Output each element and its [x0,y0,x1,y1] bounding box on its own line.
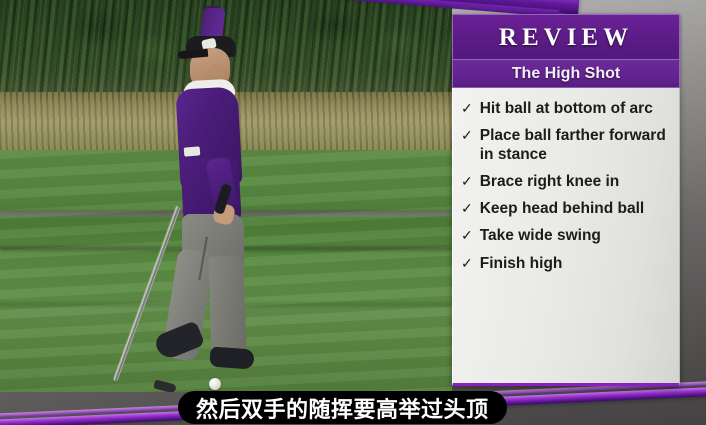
list-item: ✓ Place ball farther forward in stance [461,127,669,164]
golfer-figure [148,8,283,386]
bullet-text: Brace right knee in [480,173,669,191]
list-item: ✓ Hit ball at bottom of arc [461,100,669,118]
sweater-logo [184,146,201,156]
check-icon: ✓ [461,255,473,273]
golfer-ear [210,64,220,76]
list-item: ✓ Take wide swing [461,227,669,245]
review-panel-header: REVIEW The High Shot [452,14,680,88]
bullet-text: Place ball farther forward in stance [480,127,669,164]
check-icon: ✓ [461,100,473,118]
check-icon: ✓ [461,200,473,218]
review-title: REVIEW [453,15,679,59]
check-icon: ✓ [461,227,473,245]
review-panel: REVIEW The High Shot ✓ Hit ball at botto… [452,14,680,390]
golfer-right-shoe [209,346,254,369]
review-bullet-list: ✓ Hit ball at bottom of arc ✓ Place ball… [461,100,669,273]
video-frame[interactable] [0,0,452,392]
bullet-text: Finish high [480,255,669,273]
list-item: ✓ Keep head behind ball [461,200,669,218]
bullet-text: Hit ball at bottom of arc [480,100,669,118]
bullet-text: Take wide swing [480,227,669,245]
check-icon: ✓ [461,173,473,191]
subtitle-caption: 然后双手的随挥要高举过头顶 [178,391,507,424]
screenshot-root: REVIEW The High Shot ✓ Hit ball at botto… [0,0,706,425]
golf-ball [209,378,221,390]
review-panel-body: ✓ Hit ball at bottom of arc ✓ Place ball… [452,88,680,386]
list-item: ✓ Finish high [461,255,669,273]
bullet-text: Keep head behind ball [480,200,669,218]
review-subtitle: The High Shot [453,59,679,87]
check-icon: ✓ [461,127,473,145]
list-item: ✓ Brace right knee in [461,173,669,191]
